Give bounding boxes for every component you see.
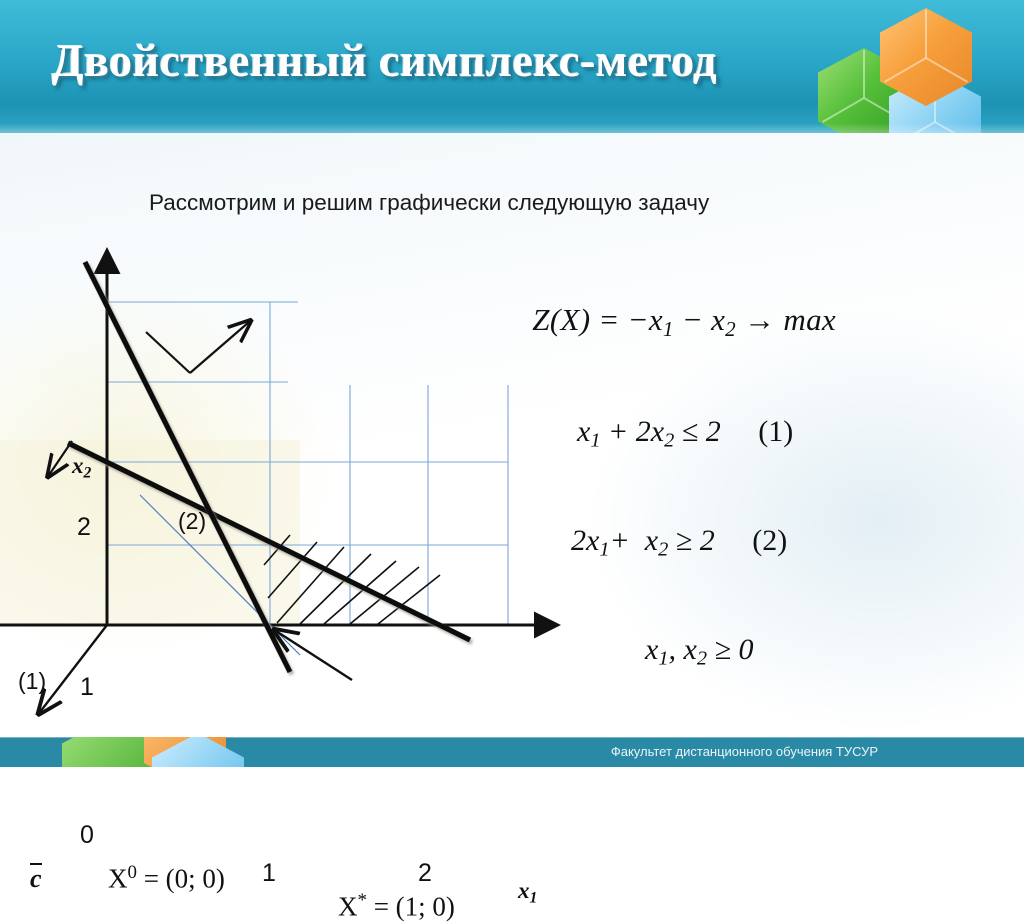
constraint-1-tag: (1) xyxy=(18,668,46,695)
graph-figure: x2 x1 2 1 0 1 2 c (1) (2) X0 = (0; 0) X*… xyxy=(0,225,620,725)
y-axis-label: x2 xyxy=(72,453,91,482)
graph-svg xyxy=(0,225,620,725)
constraint-2-tag: (2) xyxy=(178,508,206,535)
x-tick-1: 1 xyxy=(262,859,276,888)
page-title: Двойственный симплекс-метод xyxy=(52,34,717,87)
x-tick-2: 2 xyxy=(418,859,432,888)
footer-text: Факультет дистанционного обучения ТУСУР xyxy=(611,744,878,759)
footer-green-hexagon-icon xyxy=(62,737,154,767)
leader-arrow-2 xyxy=(190,322,249,373)
leader-arrow-optimum xyxy=(276,631,352,680)
origin-tick: 0 xyxy=(80,821,94,850)
x-axis-label: x1 xyxy=(518,878,537,907)
slide-header: Двойственный симплекс-метод xyxy=(0,0,1024,133)
start-point-label: X0 = (0; 0) xyxy=(108,862,225,894)
slide-canvas: Двойственный симплекс-метод Рассмотрим и… xyxy=(0,0,1024,767)
leader-line-2 xyxy=(146,332,190,373)
gradient-vector-label: c xyxy=(30,863,42,894)
y-tick-2: 2 xyxy=(77,513,91,542)
orange-hexagon-icon xyxy=(880,8,972,106)
optimum-point-label: X* = (1; 0) xyxy=(338,890,455,922)
footer-hexagon-decoration xyxy=(52,737,252,767)
subtitle-text: Рассмотрим и решим графически следующую … xyxy=(149,190,889,216)
gradient-vector-c xyxy=(40,625,107,712)
slide-footer: Факультет дистанционного обучения ТУСУР xyxy=(0,737,1024,767)
y-tick-1: 1 xyxy=(80,673,94,702)
